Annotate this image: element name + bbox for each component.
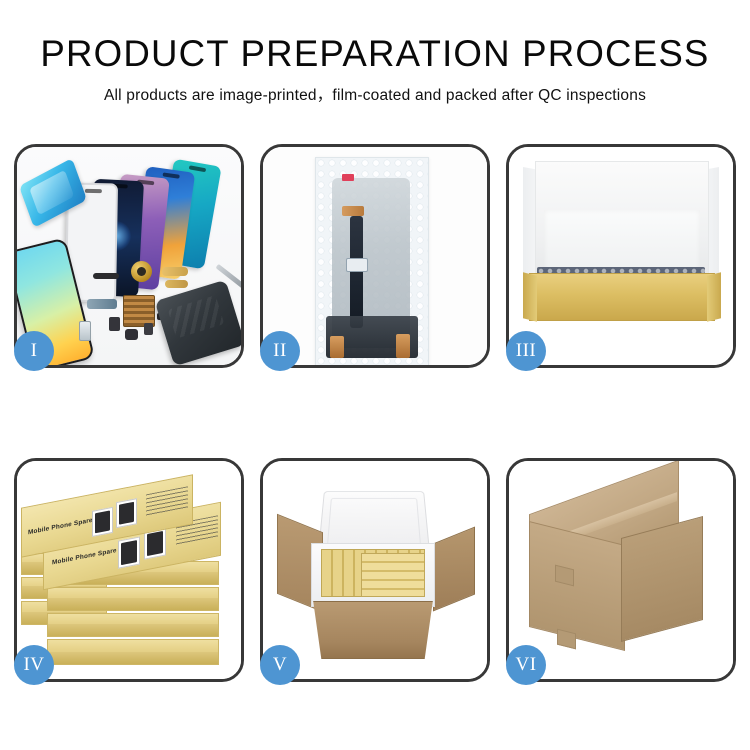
label-sticker	[342, 174, 354, 181]
page-title: PRODUCT PREPARATION PROCESS	[4, 34, 747, 74]
step-badge-3: III	[506, 331, 546, 371]
flex-cable-part	[87, 299, 117, 309]
page-subtitle: All products are image-printed，film-coat…	[0, 83, 750, 105]
speaker-part	[93, 273, 119, 279]
box-phone-image	[116, 498, 137, 528]
process-step-grid: I II	[14, 144, 736, 682]
gold-box-tray	[529, 273, 715, 321]
small-component	[125, 329, 138, 340]
phone-back-housing	[155, 280, 241, 365]
carton-loading-scene	[263, 461, 487, 679]
stacked-boxes-scene: Mobile Phone Spare Parts Mobile Phone Sp…	[17, 461, 241, 679]
step-6-image	[509, 461, 733, 679]
wireless-coil-part	[131, 261, 152, 282]
carton-side-face	[621, 516, 703, 642]
bubble-wrap-scene	[263, 147, 487, 365]
battery-part	[79, 321, 91, 341]
process-step-panel-3[interactable]: III	[506, 144, 736, 368]
notch-icon	[84, 189, 101, 193]
kapton-tape	[396, 334, 410, 358]
carton-flap-right	[433, 527, 475, 612]
process-step-panel-4[interactable]: Mobile Phone Spare Parts Mobile Phone Sp…	[14, 458, 244, 682]
box-phone-image	[92, 507, 113, 537]
box-side	[48, 652, 218, 664]
box-phone-image	[118, 536, 140, 568]
flex-cable-part	[165, 280, 188, 288]
kapton-tape	[342, 206, 364, 216]
step-badge-4: IV	[14, 645, 54, 685]
gold-boxes-in-carton	[361, 553, 425, 597]
process-step-panel-6[interactable]: VI	[506, 458, 736, 682]
gold-box	[47, 639, 219, 665]
lcd-flex-cable	[350, 216, 363, 328]
step-2-image	[263, 147, 487, 365]
carton-front-face	[529, 521, 625, 651]
small-component	[144, 323, 153, 335]
step-badge-1: I	[14, 331, 54, 371]
box-spec-lines	[146, 486, 188, 516]
carton-body	[305, 601, 441, 659]
box-side	[48, 598, 218, 610]
gold-box	[47, 613, 219, 637]
bubble-wrap-bag	[315, 157, 429, 365]
step-4-image: Mobile Phone Spare Parts Mobile Phone Sp…	[17, 461, 241, 679]
process-step-panel-2[interactable]: II	[260, 144, 490, 368]
step-badge-5: V	[260, 645, 300, 685]
notch-icon	[189, 165, 206, 172]
flex-cable-part	[162, 267, 188, 276]
carton-handle-patch	[557, 629, 576, 650]
box-side	[48, 624, 218, 636]
phone-parts-scene	[17, 147, 241, 365]
gold-box	[47, 587, 219, 611]
sealed-carton-scene	[509, 461, 733, 679]
small-component	[109, 317, 120, 331]
step-3-image	[509, 147, 733, 365]
inner-box-scene	[509, 147, 733, 365]
process-step-panel-1[interactable]: I	[14, 144, 244, 368]
step-badge-2: II	[260, 331, 300, 371]
kapton-tape	[330, 336, 344, 358]
lcd-connector	[346, 258, 368, 272]
step-5-image	[263, 461, 487, 679]
process-step-panel-5[interactable]: V	[260, 458, 490, 682]
page-header: PRODUCT PREPARATION PROCESS All products…	[0, 0, 750, 105]
step-badge-6: VI	[506, 645, 546, 685]
step-1-image	[17, 147, 241, 365]
